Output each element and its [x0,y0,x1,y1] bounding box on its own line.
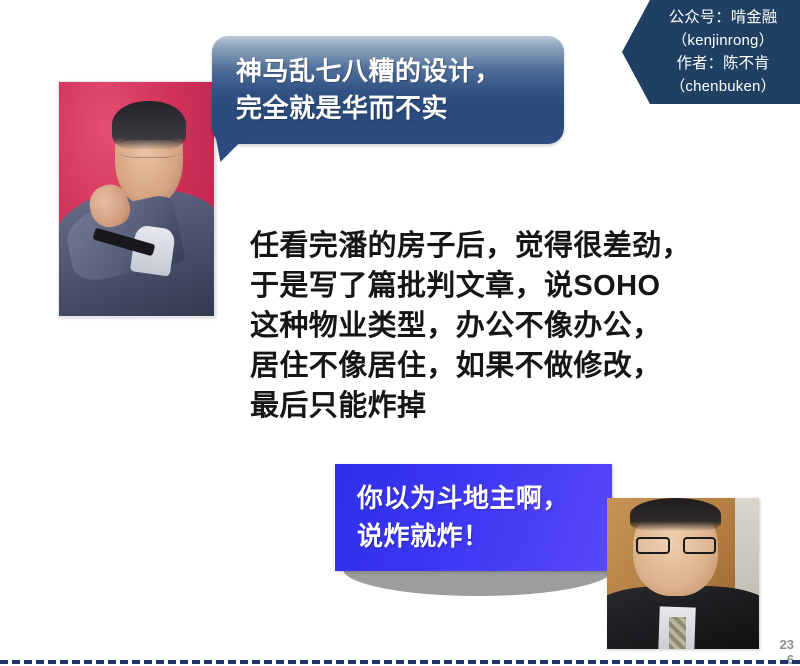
body-paragraph-line-3: 这种物业类型，办公不像办公， [250,306,780,346]
speech-bubble-top-line-2: 完全就是华而不实 [236,90,564,127]
photo-right-glasses [636,537,717,554]
photo-left-glasses [119,138,179,157]
speech-bubble-top-tail [214,128,254,162]
bottom-dashed-rule [0,660,800,664]
author-banner-line-author: 作者：陈不肯 [676,52,769,75]
body-paragraph-line-5: 最后只能炸掉 [250,386,780,426]
author-banner-line-account: 公众号：啃金融 [669,6,778,29]
photo-right-hair [630,498,721,531]
speech-bubble-top: 神马乱七八糟的设计， 完全就是华而不实 [212,36,564,144]
body-paragraph: 任看完潘的房子后，觉得很差劲， 于是写了篇批判文章，说SOHO 这种物业类型，办… [250,226,780,426]
slide-canvas: 公众号：啃金融 （kenjinrong） 作者：陈不肯 （chenbuken） … [0,0,800,666]
author-banner-line-author-id: （chenbuken） [670,75,776,98]
author-banner-line-account-id: （kenjinrong） [672,29,774,52]
photo-right-portrait [607,498,759,649]
photo-right-tie [669,617,686,649]
speech-bubble-bottom: 你以为斗地主啊， 说炸就炸！ [335,464,612,571]
author-banner: 公众号：啃金融 （kenjinrong） 作者：陈不肯 （chenbuken） [622,0,800,104]
speech-bubble-bottom-line-1: 你以为斗地主啊， [357,479,612,517]
speech-bubble-bottom-shadow [343,568,613,596]
speech-bubble-bottom-line-2: 说炸就炸！ [357,517,612,555]
page-number-value: 23 [780,637,794,652]
speech-bubble-top-line-1: 神马乱七八糟的设计， [236,53,564,90]
body-paragraph-line-1: 任看完潘的房子后，觉得很差劲， [250,226,780,266]
body-paragraph-line-4: 居住不像居住，如果不做修改， [250,346,780,386]
photo-left-portrait [58,81,215,317]
body-paragraph-line-2: 于是写了篇批判文章，说SOHO [250,266,780,306]
